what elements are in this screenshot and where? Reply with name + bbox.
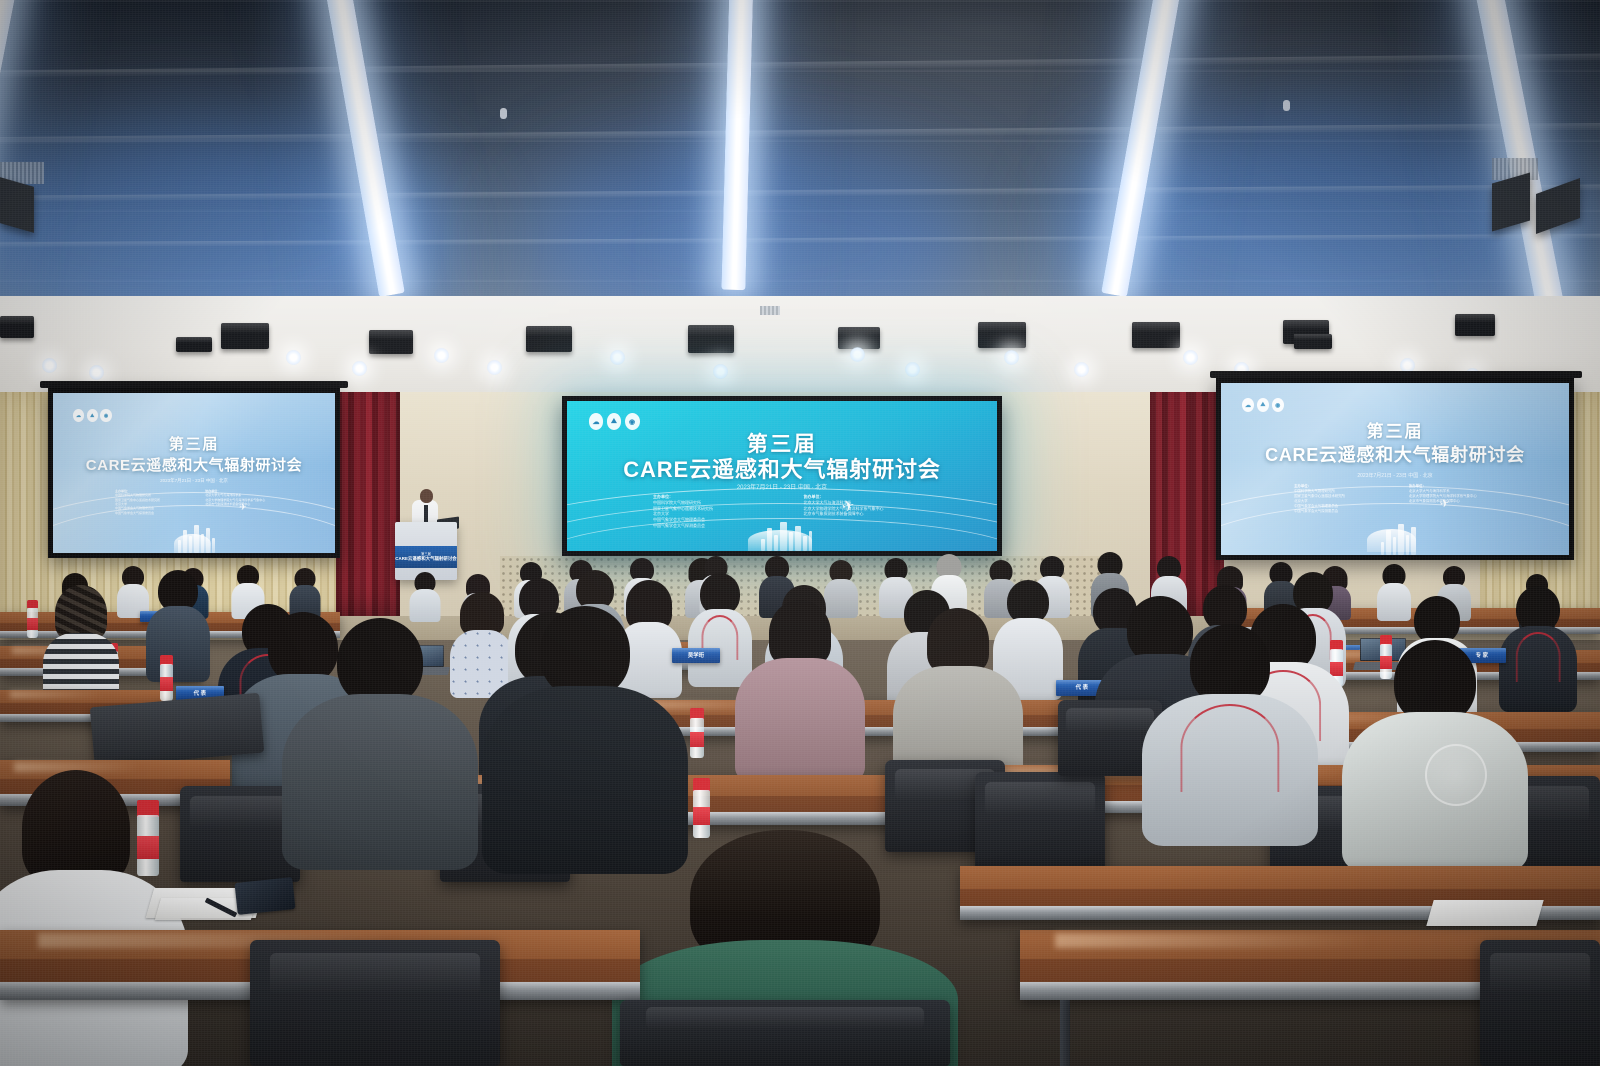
projection-surface-right: ☁ ⛰ ◉ 第三届 CARE云遥感和大气辐射研讨会 2023年7月21日 - 2…	[1221, 383, 1569, 555]
attendee	[740, 600, 860, 780]
stage-curtain-left	[336, 392, 400, 632]
led-wall-surface: ☁ ⛰ ◉ 第三届 CARE云遥感和大气辐射研讨会 2023年7月21日 - 2…	[567, 401, 997, 551]
conference-hall-photo: ☁ ⛰ ◉ 第三届 CARE云遥感和大气辐射研讨会 2023年7月21日 - 2…	[0, 0, 1600, 1066]
attendee-foreground	[290, 618, 470, 868]
slide-skyline-graphic	[1325, 510, 1471, 555]
slide-title-line1: 第三届	[1221, 417, 1569, 442]
led-video-wall[interactable]: ☁ ⛰ ◉ 第三届 CARE云遥感和大气辐射研讨会 2023年7月21日 - 2…	[562, 396, 1002, 556]
ceiling-speaker	[1455, 314, 1495, 336]
attendee	[410, 572, 440, 622]
attendee	[1350, 640, 1520, 870]
screen-roller-left	[40, 381, 348, 388]
papers	[1426, 900, 1543, 926]
ceiling-speaker	[221, 323, 269, 349]
ceiling-speaker	[978, 322, 1026, 348]
presenter-head	[420, 489, 433, 503]
downlight	[1074, 362, 1089, 377]
satellite-logo-icon: ◉	[100, 409, 111, 422]
podium-sign: 第三届 CARE云遥感和大气辐射研讨会	[395, 546, 457, 568]
downlight	[850, 347, 865, 362]
downlight	[434, 348, 449, 363]
chair-post	[1060, 1000, 1070, 1066]
ceiling-speaker	[838, 327, 880, 349]
ceiling-texture	[0, 0, 1600, 300]
water-bottle	[160, 655, 173, 701]
downlight	[286, 350, 301, 365]
downlight	[610, 350, 625, 365]
projection-screen-left[interactable]: ☁ ⛰ ◉ 第三届 CARE云遥感和大气辐射研讨会 2023年7月21日 - 2…	[48, 388, 340, 558]
slide-title-line1: 第三届	[53, 433, 335, 454]
attendee	[46, 585, 116, 705]
projector-right	[1294, 334, 1332, 349]
slide-date: 2023年7月21日 - 23日 中国 · 北京	[53, 478, 335, 484]
slide-title-line2: CARE云遥感和大气辐射研讨会	[1221, 441, 1569, 467]
presenter-tie	[424, 505, 428, 522]
downlight	[1183, 350, 1198, 365]
smartphone[interactable]	[234, 877, 295, 915]
ceiling-speaker	[1132, 322, 1180, 348]
ceiling-speaker	[526, 326, 572, 352]
attendee-foreground-left	[0, 770, 180, 1066]
downlight	[487, 360, 502, 375]
slide-title-line2: CARE云遥感和大气辐射研讨会	[53, 454, 335, 475]
satellite-logo-icon: ◉	[1272, 398, 1284, 412]
chair-front	[620, 1000, 950, 1066]
projection-surface-left: ☁ ⛰ ◉ 第三届 CARE云遥感和大气辐射研讨会 2023年7月21日 - 2…	[53, 393, 335, 553]
ceiling-speaker	[0, 316, 34, 338]
water-bottle	[27, 600, 38, 638]
downlight	[352, 361, 367, 376]
slide-logo-group: ☁ ⛰ ◉	[73, 409, 112, 422]
mountain-logo-icon: ⛰	[87, 409, 98, 422]
cloud-logo-icon: ☁	[73, 409, 84, 422]
ceiling-grille	[760, 306, 780, 315]
downlight	[42, 358, 57, 373]
tshirt-emblem	[1425, 744, 1487, 806]
downlight	[1004, 350, 1019, 365]
ceiling-sensor	[500, 108, 507, 119]
ceiling-speaker	[688, 325, 734, 353]
slide-plane-icon: ✈	[239, 502, 247, 513]
slide-logo-group: ☁ ⛰ ◉	[1242, 398, 1284, 412]
downlight	[905, 362, 920, 377]
screen-roller-right	[1210, 371, 1582, 378]
wall-speaker-left	[0, 177, 34, 233]
mountain-logo-icon: ⛰	[1257, 398, 1269, 412]
downlight	[89, 365, 104, 380]
projector-left	[176, 337, 212, 352]
slide-skyline-graphic	[696, 512, 877, 551]
downlight	[713, 364, 728, 379]
ceiling-sensor	[1283, 100, 1290, 111]
chair-front	[250, 940, 500, 1066]
projection-screen-right[interactable]: ☁ ⛰ ◉ 第三届 CARE云遥感和大气辐射研讨会 2023年7月21日 - 2…	[1216, 378, 1574, 560]
chair	[975, 772, 1105, 870]
water-bottle	[693, 778, 710, 838]
ceiling-speaker	[369, 330, 413, 354]
podium-sign-line2: CARE云遥感和大气辐射研讨会	[395, 556, 456, 562]
ceiling	[0, 0, 1600, 300]
cloud-logo-icon: ☁	[1242, 398, 1254, 412]
slide-skyline-graphic	[138, 511, 256, 553]
water-bottle	[690, 708, 704, 758]
chair-front	[1480, 940, 1600, 1066]
attendee	[1150, 624, 1310, 844]
slide-title-line2: CARE云遥感和大气辐射研讨会	[567, 452, 997, 484]
attendee	[148, 570, 208, 680]
slide-date: 2023年7月21日 - 23日 中国 · 北京	[1221, 472, 1569, 479]
